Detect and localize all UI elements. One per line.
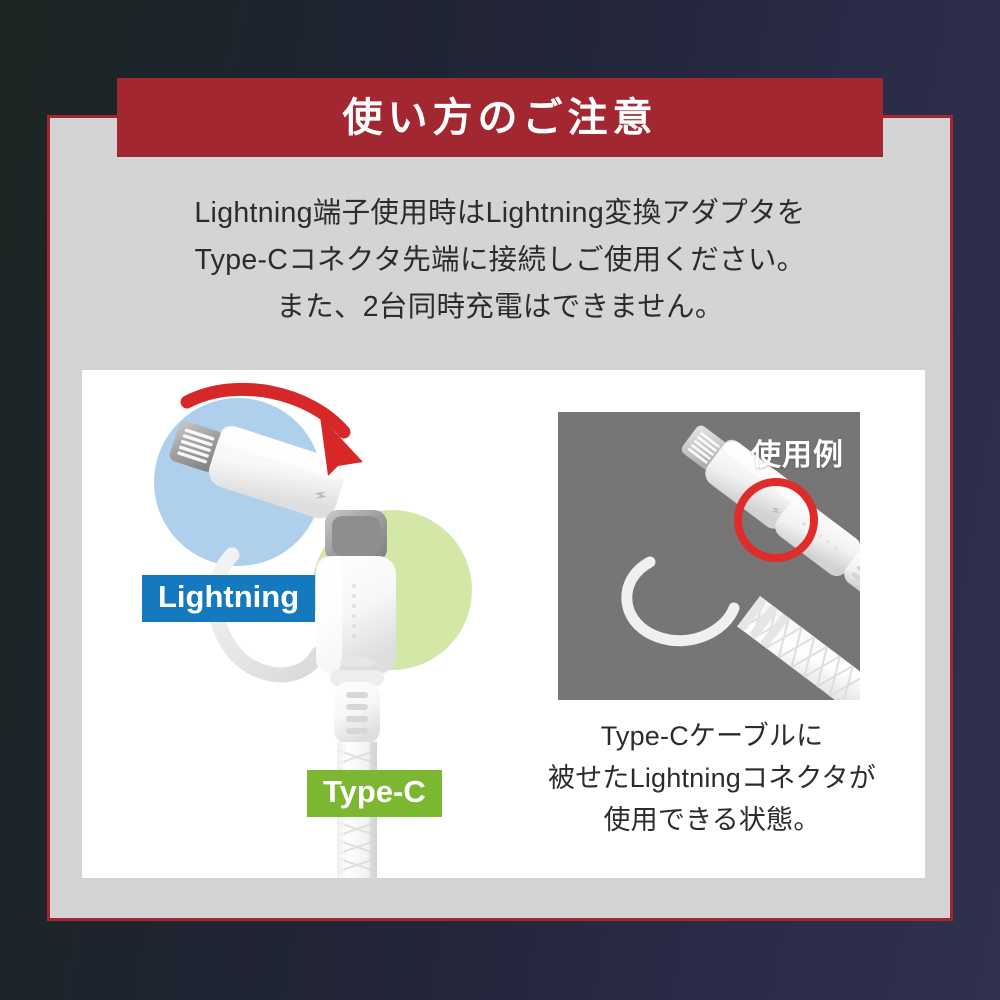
- photo-caption: Type-Cケーブルに 被せたLightningコネクタが 使用できる状態。: [502, 715, 922, 841]
- photo-caption-line-3: 使用できる状態。: [502, 799, 922, 841]
- notice-body-text: Lightning端子使用時はLightning変換アダプタを Type-Cコネ…: [60, 190, 940, 331]
- photo-caption-line-2: 被せたLightningコネクタが: [502, 757, 922, 799]
- notice-body-line-3: また、2台同時充電はできません。: [60, 284, 940, 331]
- usage-example-label: 使用例: [751, 430, 844, 474]
- cable-diagram: Lightning Type-C: [82, 370, 552, 878]
- page-title: 使い方のご注意: [343, 98, 658, 138]
- illustration-panel: Lightning Type-C: [82, 370, 925, 878]
- label-lightning: Lightning: [142, 575, 315, 622]
- label-typec: Type-C: [307, 770, 442, 817]
- red-circle-annotation-icon: [734, 478, 818, 562]
- notice-body-line-1: Lightning端子使用時はLightning変換アダプタを: [60, 190, 940, 237]
- title-banner: 使い方のご注意: [117, 78, 883, 157]
- photo-caption-line-1: Type-Cケーブルに: [502, 715, 922, 757]
- notice-body-line-2: Type-Cコネクタ先端に接続しご使用ください。: [60, 237, 940, 284]
- usage-example-photo: 使用例: [558, 412, 860, 700]
